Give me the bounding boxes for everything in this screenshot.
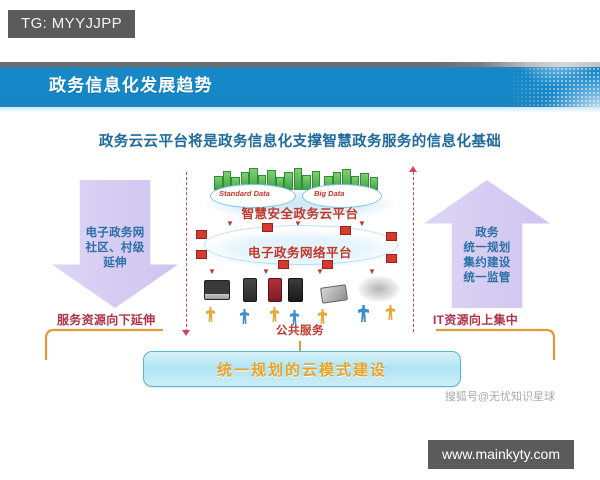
left-arrow-line-1: 电子政务网: [52, 226, 178, 241]
right-arrow-line-1: 政务: [424, 226, 550, 241]
right-dashed-arrow-head-icon: [409, 166, 417, 172]
server-node-icon-3: [262, 223, 273, 232]
server-node-icon-4: [278, 260, 289, 269]
telegram-watermark-chip: TG: MYYJJPP: [8, 10, 135, 38]
server-node-icon-1: [196, 230, 207, 239]
person-icon-3: [270, 307, 279, 322]
down-tick-icon-5: ▼: [262, 268, 270, 276]
smartphone-icon-2: [268, 278, 282, 302]
slide-subtitle: 政务云云平台将是政务信息化支撑智慧政务服务的信息化基础: [0, 130, 600, 151]
header-under-glow: [0, 107, 600, 113]
down-tick-icon-7: ▼: [368, 268, 376, 276]
right-arrow-text: 政务 统一规划 集约建设 统一监管: [424, 226, 550, 286]
server-node-icon-7: [386, 254, 397, 263]
left-arrow-line-3: 延伸: [52, 256, 178, 271]
laptop-icon: [204, 280, 230, 300]
page-title: 政务信息化发展趋势: [49, 71, 213, 96]
smartphone-icon-3: [288, 278, 303, 302]
down-tick-icon-4: ▼: [208, 268, 216, 276]
lower-cloud-title: 电子政务网络平台: [190, 242, 410, 261]
site-url-watermark: www.mainkyty.com: [428, 440, 574, 469]
right-arrow-line-2: 统一规划: [424, 241, 550, 256]
big-data-label: Big Data: [314, 189, 344, 198]
tablet-icon: [320, 284, 348, 303]
standard-data-label: Standard Data: [219, 189, 270, 198]
person-icon-7: [386, 305, 395, 320]
slide-header: 政务信息化发展趋势: [0, 62, 600, 112]
cloud-architecture-diagram: Standard Data Big Data 智慧安全政务云平台 ▼ ▼ ▼ 电…: [190, 168, 410, 334]
smartphone-icon-1: [243, 278, 257, 302]
right-dashed-guide: [413, 172, 414, 332]
left-dashed-arrow-head-icon: [182, 330, 190, 336]
public-service-label: 公共服务: [190, 322, 410, 338]
left-dashed-guide: [186, 172, 187, 332]
slide-canvas: TG: MYYJJPP 政务信息化发展趋势 政务云云平台将是政务信息化支撑智慧政…: [0, 0, 600, 480]
bottom-summary-banner: 统一规划的云模式建设: [143, 351, 461, 387]
left-down-arrow: 电子政务网 社区、村级 延伸: [52, 180, 178, 308]
bottom-banner-text: 统一规划的云模式建设: [144, 352, 460, 386]
sohu-watermark: 搜狐号@无忧知识星球: [305, 388, 555, 404]
right-up-arrow: 政务 统一规划 集约建设 统一监管: [424, 180, 550, 308]
down-tick-icon-1: ▼: [226, 220, 234, 228]
server-node-icon-2: [196, 250, 207, 259]
person-icon-1: [206, 307, 215, 322]
left-arrow-line-2: 社区、村级: [52, 241, 178, 256]
down-tick-icon-3: ▼: [358, 220, 366, 228]
down-tick-icon-6: ▼: [316, 268, 324, 276]
right-arrow-line-4: 统一监管: [424, 271, 550, 286]
header-dot-pattern-icon: [508, 67, 600, 107]
left-arrow-text: 电子政务网 社区、村级 延伸: [52, 226, 178, 271]
server-node-icon-6: [386, 232, 397, 241]
server-node-icon-5: [340, 226, 351, 235]
people-network-cluster-icon: [358, 276, 400, 302]
person-icon-6: [358, 305, 369, 322]
right-arrow-line-3: 集约建设: [424, 256, 550, 271]
